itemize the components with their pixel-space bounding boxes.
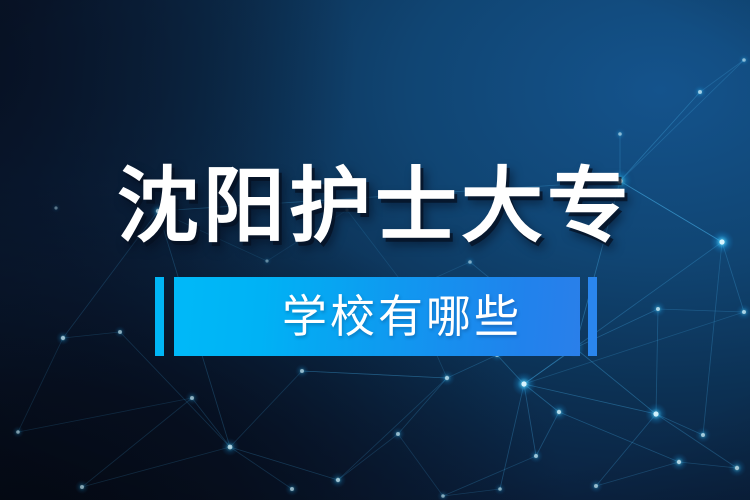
banner-image: 沈阳护士大专 学校有哪些 (0, 0, 750, 500)
headline-container: 沈阳护士大专 (0, 160, 750, 254)
right-accent-bar (588, 277, 597, 356)
right-accent-gap (580, 277, 588, 356)
headline-title: 沈阳护士大专 (117, 160, 633, 254)
subtitle-text: 学校有哪些 (222, 291, 532, 343)
subtitle-bar-row: 学校有哪些 (155, 277, 597, 356)
left-accent-bar (155, 277, 164, 356)
subtitle-bar: 学校有哪些 (174, 277, 580, 356)
left-accent-gap (164, 277, 174, 356)
